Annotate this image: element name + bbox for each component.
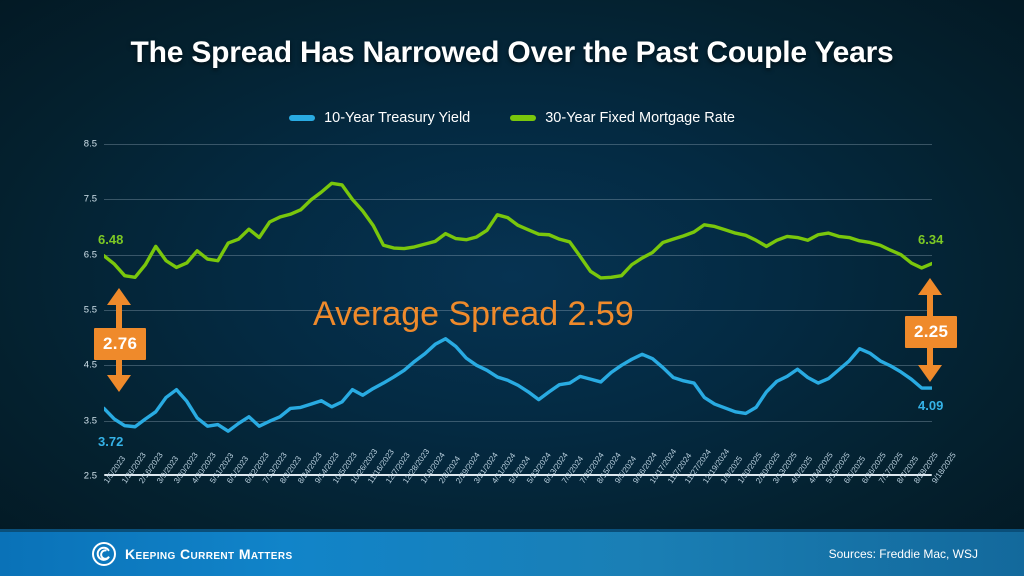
y-axis-tick-label: 4.5	[84, 360, 97, 371]
brand-logo: Keeping Current Matters	[92, 542, 293, 566]
series-line-mortgage	[104, 183, 932, 278]
line-swatch-icon	[289, 115, 315, 121]
legend-item-mortgage[interactable]: 30-Year Fixed Mortgage Rate	[510, 110, 735, 126]
y-axis-tick-label: 5.5	[84, 305, 97, 316]
legend-label-treasury: 10-Year Treasury Yield	[324, 110, 470, 126]
blue-end-value-label: 4.09	[918, 398, 943, 413]
sources-text: Sources: Freddie Mac, WSJ	[829, 547, 978, 561]
brand-name: Keeping Current Matters	[125, 546, 293, 562]
page-title: The Spread Has Narrowed Over the Past Co…	[0, 36, 1024, 70]
y-axis-tick-label: 8.5	[84, 139, 97, 150]
y-axis-tick-label: 3.5	[84, 415, 97, 426]
spread-badge-right: 2.25	[905, 316, 957, 348]
spread-badge-left: 2.76	[94, 328, 146, 360]
blue-start-value-label: 3.72	[98, 434, 123, 449]
legend-item-treasury[interactable]: 10-Year Treasury Yield	[289, 110, 470, 126]
spiral-circle-logo-icon	[92, 542, 116, 566]
line-swatch-icon	[510, 115, 536, 121]
series-line-treasury	[104, 339, 932, 431]
green-end-value-label: 6.34	[918, 232, 943, 247]
legend-label-mortgage: 30-Year Fixed Mortgage Rate	[545, 110, 735, 126]
average-spread-annotation: Average Spread 2.59	[313, 295, 634, 334]
footer-bar: Keeping Current Matters Sources: Freddie…	[0, 532, 1024, 576]
green-start-value-label: 6.48	[98, 232, 123, 247]
y-axis-tick-label: 2.5	[84, 471, 97, 482]
y-axis-tick-label: 7.5	[84, 194, 97, 205]
y-axis-tick-label: 6.5	[84, 249, 97, 260]
chart-legend: 10-Year Treasury Yield 30-Year Fixed Mor…	[0, 110, 1024, 126]
slide-canvas: The Spread Has Narrowed Over the Past Co…	[0, 0, 1024, 576]
